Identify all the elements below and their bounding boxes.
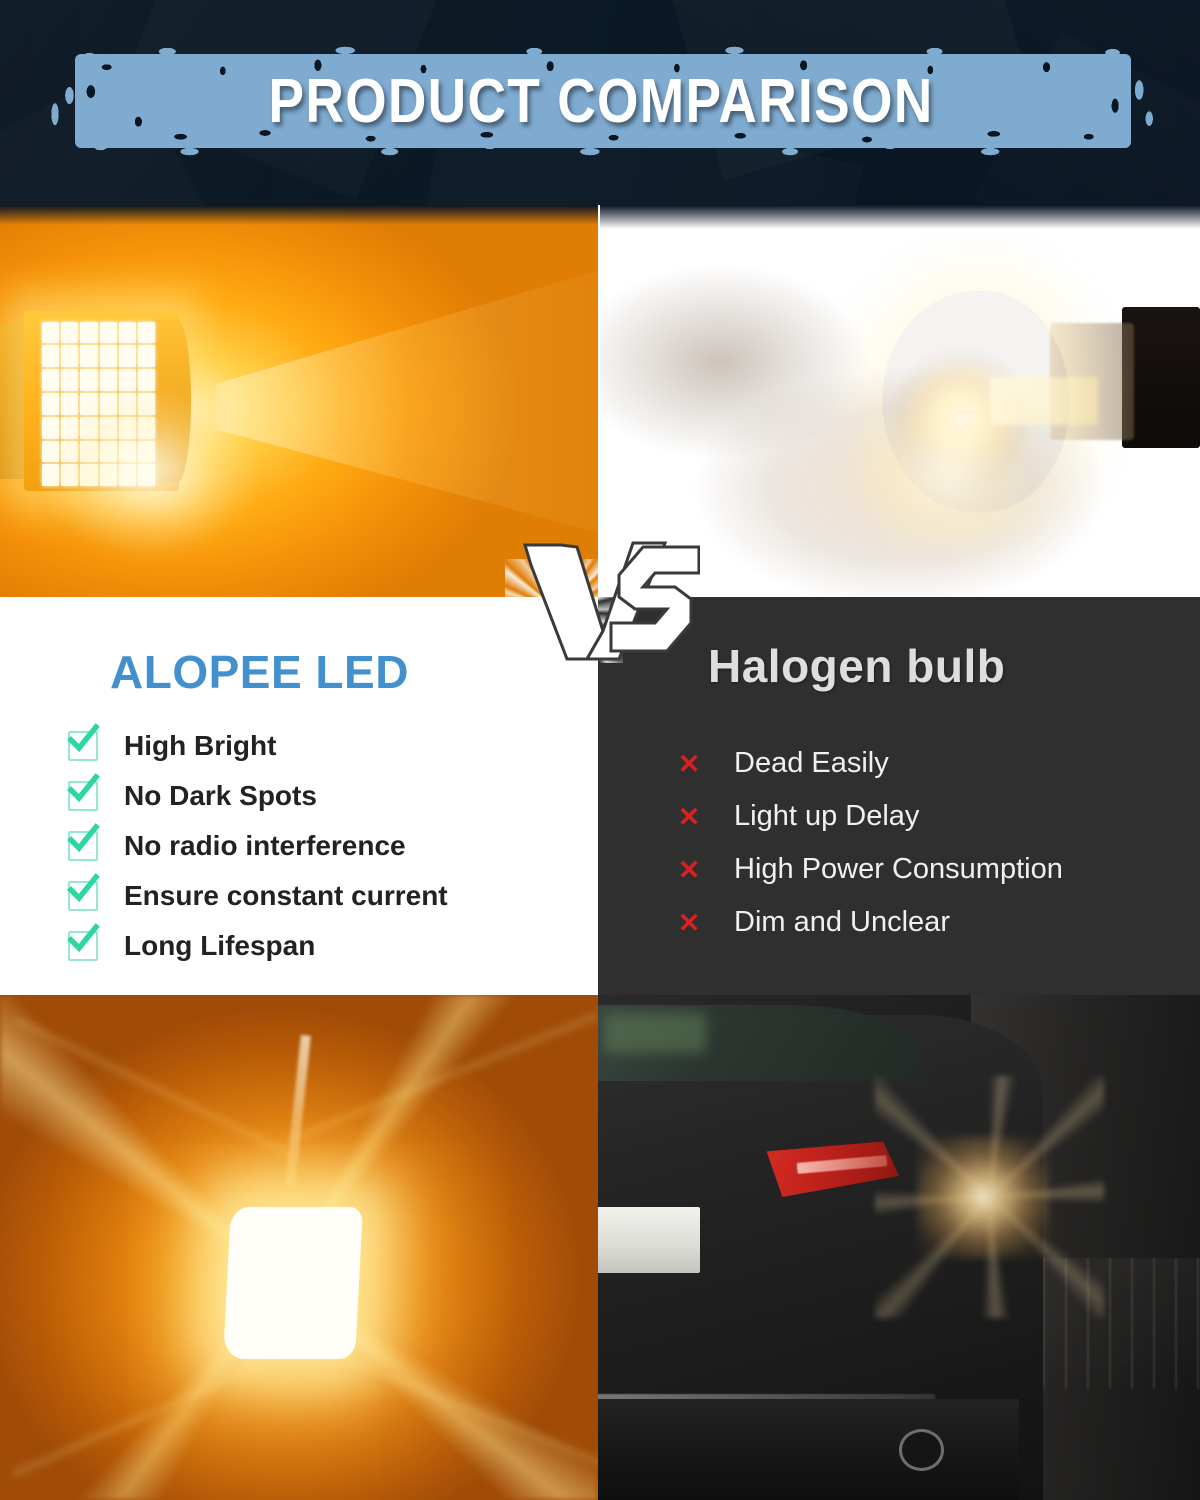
drawback-label: Dead Easily <box>734 747 889 780</box>
led-chip <box>119 322 136 344</box>
photo-alopee-led-bulb <box>0 205 598 597</box>
car-exhaust-tip <box>899 1429 944 1470</box>
led-feature-list: High Bright No Dark Spots No radio inter… <box>68 721 448 971</box>
drawback-label: Dim and Unclear <box>734 906 950 939</box>
comparison-section: ALOPEE LED High Bright No Dark Spots <box>0 597 1200 995</box>
bottom-photo-row <box>0 995 1200 1500</box>
led-chip <box>42 345 59 367</box>
led-chip <box>80 322 97 344</box>
car-rear-image <box>598 995 1200 1500</box>
led-hotspot-glow <box>42 385 257 557</box>
list-item: High Bright <box>68 721 448 771</box>
halogen-turn-signal-glow <box>917 1136 1049 1257</box>
photo-halogen-signal-on-car <box>598 995 1200 1500</box>
halogen-bulb-image <box>600 205 1200 597</box>
halogen-glow <box>840 377 1056 565</box>
led-light-beam <box>215 260 598 542</box>
led-panel-title: ALOPEE LED <box>110 645 409 699</box>
led-chip <box>80 345 97 367</box>
photo-led-signal-glow <box>0 995 598 1500</box>
check-icon <box>68 931 98 961</box>
list-item: Ensure constant current <box>68 871 448 921</box>
halogen-drawback-list: ✕ Dead Easily ✕ Light up Delay ✕ High Po… <box>676 737 1063 949</box>
drawback-label: High Power Consumption <box>734 853 1063 886</box>
brush-stroke-banner: PRODUCT COMPARISON <box>45 46 1157 156</box>
led-bulb-image <box>0 205 598 597</box>
check-icon <box>68 781 98 811</box>
x-icon: ✕ <box>676 804 702 830</box>
halogen-panel-title: Halogen bulb <box>708 639 1005 693</box>
photo-halogen-bulb <box>600 205 1200 597</box>
car-license-plate <box>598 1207 700 1273</box>
car-bumper <box>598 1399 1019 1500</box>
led-signal-image <box>0 995 598 1500</box>
check-icon <box>68 881 98 911</box>
check-icon <box>68 831 98 861</box>
list-item: ✕ High Power Consumption <box>676 843 1063 896</box>
led-chip <box>138 345 155 367</box>
list-item: ✕ Light up Delay <box>676 790 1063 843</box>
led-top-shadow <box>0 205 598 225</box>
list-item: Long Lifespan <box>68 921 448 971</box>
check-icon <box>68 731 98 761</box>
list-item: ✕ Dead Easily <box>676 737 1063 790</box>
led-chip <box>138 322 155 344</box>
led-chip <box>42 322 59 344</box>
halogen-comparison-panel: Halogen bulb ✕ Dead Easily ✕ Light up De… <box>598 597 1200 995</box>
x-icon: ✕ <box>676 751 702 777</box>
feature-label: Long Lifespan <box>124 930 315 962</box>
led-signal-hot-core <box>223 1207 362 1359</box>
list-item: No Dark Spots <box>68 771 448 821</box>
list-item: ✕ Dim and Unclear <box>676 896 1063 949</box>
drawback-label: Light up Delay <box>734 800 919 833</box>
led-chip <box>119 345 136 367</box>
x-icon: ✕ <box>676 857 702 883</box>
led-chip <box>100 345 117 367</box>
feature-label: Ensure constant current <box>124 880 448 912</box>
feature-label: No Dark Spots <box>124 780 317 812</box>
feature-label: High Bright <box>124 730 276 762</box>
car-window-reflection <box>604 1013 706 1053</box>
product-comparison-page: PRODUCT COMPARISON <box>0 0 1200 1500</box>
page-title: PRODUCT COMPARISON <box>123 46 1079 156</box>
page-header: PRODUCT COMPARISON <box>0 0 1200 205</box>
led-chip <box>100 322 117 344</box>
list-item: No radio interference <box>68 821 448 871</box>
feature-label: No radio interference <box>124 830 406 862</box>
led-chip <box>61 345 78 367</box>
led-comparison-panel: ALOPEE LED High Bright No Dark Spots <box>0 597 598 995</box>
top-photo-row <box>0 205 1200 597</box>
x-icon: ✕ <box>676 910 702 936</box>
led-chip <box>61 322 78 344</box>
